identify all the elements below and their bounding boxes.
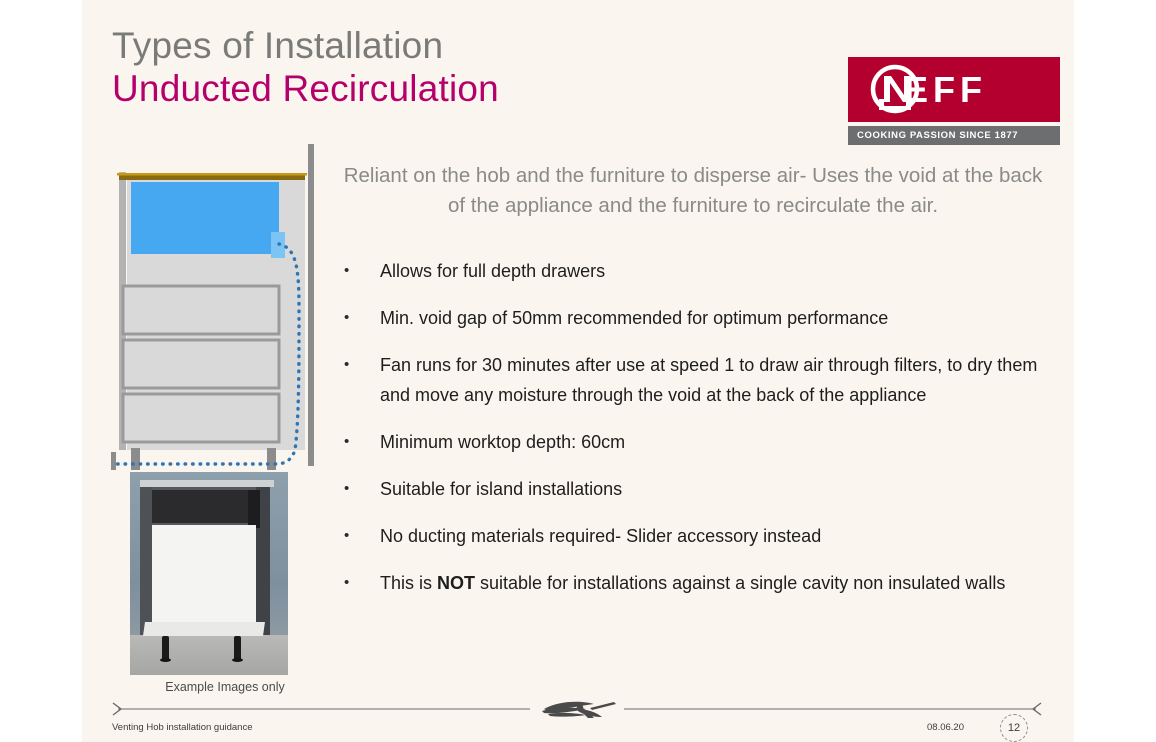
olive-branch-ornament <box>542 702 616 718</box>
bullet-text: Fan runs for 30 minutes after use at spe… <box>380 350 1046 410</box>
logo-wordmark: EFF <box>904 68 987 112</box>
footer-date: 08.06.20 <box>927 722 964 733</box>
bullet-marker-icon: • <box>340 350 380 410</box>
slide-canvas: Types of Installation Unducted Recircula… <box>82 0 1074 742</box>
worktop-edge <box>117 173 307 176</box>
photo-caption: Example Images only <box>130 680 320 694</box>
photo-foot-right <box>232 658 243 662</box>
bullet-marker-icon: • <box>340 568 380 598</box>
footer-left-text: Venting Hob installation guidance <box>112 722 253 733</box>
bullet-text: This is NOT suitable for installations a… <box>380 568 1046 598</box>
drawer-front-top <box>123 286 279 334</box>
plinth-leg-left <box>131 448 140 470</box>
photo-white-interior <box>152 525 256 625</box>
plinth-leg-right <box>267 448 276 470</box>
footer-page-number: 12 <box>1000 714 1028 742</box>
bullet-text: Suitable for island installations <box>380 474 1046 504</box>
intro-paragraph: Reliant on the hob and the furniture to … <box>340 161 1046 221</box>
drawer-front-middle <box>123 340 279 388</box>
bullet-marker-icon: • <box>340 474 380 504</box>
bullet-text: Allows for full depth drawers <box>380 256 1046 286</box>
photo-worktop <box>140 480 274 487</box>
bullet-item: •Suitable for island installations <box>340 474 1046 504</box>
logo-tagline-text: COOKING PASSION SINCE 1877 <box>848 130 1018 141</box>
page-title: Types of Installation Unducted Recircula… <box>112 25 752 110</box>
bullet-text: No ducting materials required- Slider ac… <box>380 521 1046 551</box>
title-line-secondary: Unducted Recirculation <box>112 68 752 109</box>
bullet-marker-icon: • <box>340 256 380 286</box>
bullet-item: •Minimum worktop depth: 60cm <box>340 427 1046 457</box>
photo-floor <box>130 635 288 675</box>
photo-base-panel <box>143 622 265 636</box>
drawer-front-bottom <box>123 394 279 442</box>
logo-red-panel: EFF <box>848 57 1060 122</box>
bullet-item: •No ducting materials required- Slider a… <box>340 521 1046 551</box>
bullet-item: •Allows for full depth drawers <box>340 256 1046 286</box>
bullet-item: •This is NOT suitable for installations … <box>340 568 1046 598</box>
photo-left-side-panel <box>140 487 152 635</box>
wall-line <box>308 144 314 466</box>
photo-leg-right <box>234 636 241 660</box>
bullet-marker-icon: • <box>340 303 380 333</box>
bullet-marker-icon: • <box>340 427 380 457</box>
logo-tagline-bar: COOKING PASSION SINCE 1877 <box>848 126 1060 145</box>
appliance-block <box>131 182 279 254</box>
photo-appliance-bracket <box>248 490 260 528</box>
footer-divider <box>112 700 1042 718</box>
bullet-item: •Min. void gap of 50mm recommended for o… <box>340 303 1046 333</box>
bullet-text: Minimum worktop depth: 60cm <box>380 427 1046 457</box>
photo-foot-left <box>160 658 171 662</box>
photo-leg-left <box>162 636 169 660</box>
bullet-marker-icon: • <box>340 521 380 551</box>
title-line-primary: Types of Installation <box>112 25 752 66</box>
installation-cross-section-diagram <box>107 140 347 470</box>
bullet-item: •Fan runs for 30 minutes after use at sp… <box>340 350 1046 410</box>
photo-appliance-box <box>152 490 256 523</box>
bullet-list: •Allows for full depth drawers•Min. void… <box>340 256 1046 615</box>
example-cabinet-photo <box>130 472 288 675</box>
bullet-text: Min. void gap of 50mm recommended for op… <box>380 303 1046 333</box>
floor-marker-left <box>111 452 116 470</box>
neff-logo: EFF COOKING PASSION SINCE 1877 <box>848 57 1060 145</box>
